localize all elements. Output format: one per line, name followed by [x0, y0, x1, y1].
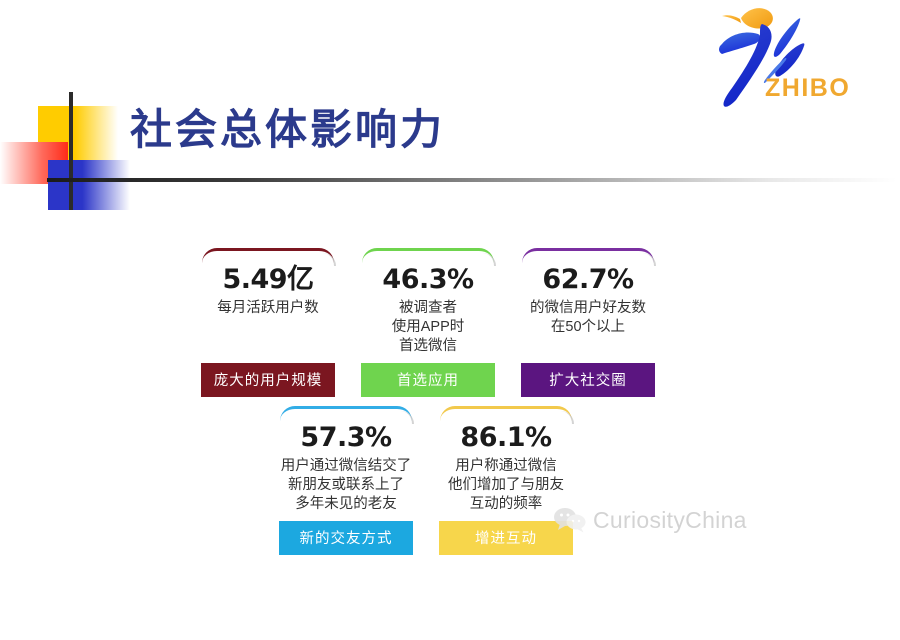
- stat-card: 46.3% 被调查者 使用APP时 首选微信 首选应用: [356, 248, 500, 397]
- decoration-vertical-line: [69, 92, 73, 210]
- card-accent-arc: [280, 406, 412, 421]
- card-description: 每月活跃用户数: [217, 299, 319, 318]
- card-description: 用户称通过微信 他们增加了与朋友 互动的频率: [448, 457, 564, 514]
- card-value: 57.3%: [300, 423, 391, 452]
- card-value: 62.7%: [542, 265, 633, 294]
- card-badge[interactable]: 庞大的用户规模: [201, 363, 335, 397]
- card-value: 46.3%: [382, 265, 473, 294]
- title-decoration: [0, 92, 150, 212]
- card-badge[interactable]: 新的交友方式: [279, 521, 413, 555]
- card-value: 86.1%: [460, 423, 551, 452]
- card-description: 用户通过微信结交了 新朋友或联系上了 多年未见的老友: [281, 457, 412, 514]
- watermark: CuriosityChina: [553, 506, 747, 534]
- stat-card: 57.3% 用户通过微信结交了 新朋友或联系上了 多年未见的老友 新的交友方式: [274, 406, 418, 555]
- card-accent-arc: [202, 248, 334, 263]
- stat-card: 62.7% 的微信用户好友数 在50个以上 扩大社交圈: [516, 248, 660, 397]
- slide-canvas: ZHIBO 社会总体影响力 5.49亿 每月活跃用户数 庞大的用户规模 46.3…: [0, 0, 900, 640]
- decoration-blue-block: [48, 160, 130, 210]
- infographic-row-top: 5.49亿 每月活跃用户数 庞大的用户规模 46.3% 被调查者 使用APP时 …: [196, 248, 676, 397]
- stat-card: 5.49亿 每月活跃用户数 庞大的用户规模: [196, 248, 340, 397]
- card-badge[interactable]: 首选应用: [361, 363, 495, 397]
- card-description: 的微信用户好友数 在50个以上: [530, 299, 646, 337]
- zhibo-logo: ZHIBO: [700, 2, 870, 110]
- title-underline: [47, 178, 897, 182]
- card-accent-arc: [440, 406, 572, 421]
- watermark-text: CuriosityChina: [593, 507, 747, 534]
- card-value: 5.49亿: [222, 265, 313, 294]
- card-accent-arc: [362, 248, 494, 263]
- card-badge[interactable]: 扩大社交圈: [521, 363, 655, 397]
- card-accent-arc: [522, 248, 654, 263]
- wechat-bubble-icon: [553, 506, 587, 534]
- zhibo-wordmark: ZHIBO: [765, 74, 850, 103]
- card-description: 被调查者 使用APP时 首选微信: [392, 299, 465, 356]
- page-title: 社会总体影响力: [130, 110, 445, 152]
